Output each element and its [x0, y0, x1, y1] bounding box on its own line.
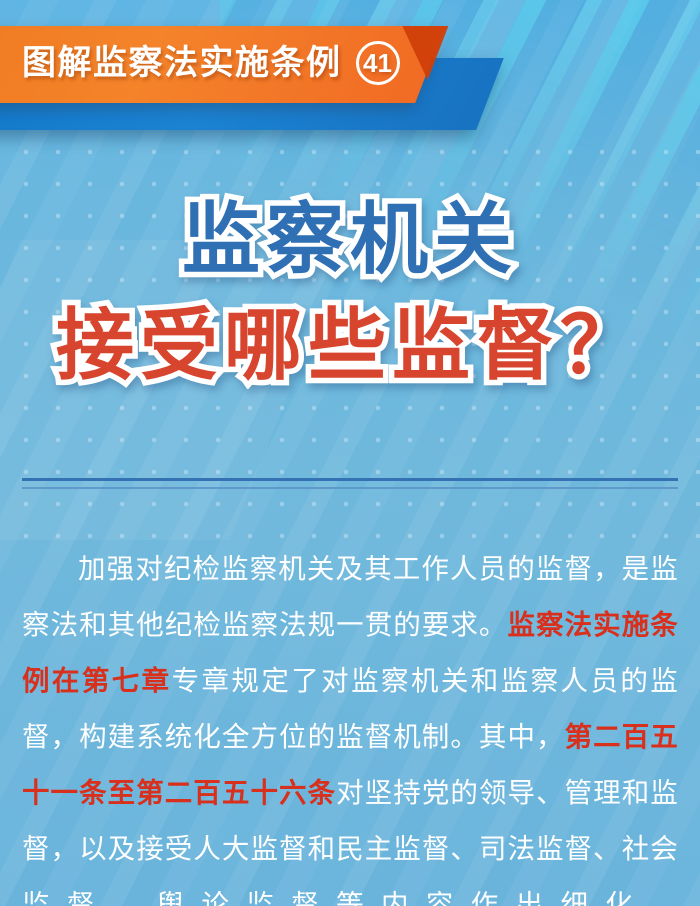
body-paragraph: 加强对纪检监察机关及其工作人员的监督，是监察法和其他纪检监察法规一贯的要求。监察…: [22, 541, 678, 906]
divider-line-thin: [22, 487, 678, 489]
page-title-line-1: 监察机关: [0, 186, 700, 292]
infographic-poster: 图解监察法实施条例 41 监察机关 接受哪些监督？ 加强对纪检监察机关及其工作人…: [0, 0, 700, 906]
banner-episode-number-badge: 41: [356, 41, 400, 85]
divider-line-thick: [22, 478, 678, 481]
banner-title-group: 图解监察法实施条例 41: [22, 38, 400, 88]
banner-title-label: 图解监察法实施条例: [22, 38, 342, 88]
divider: [22, 478, 678, 489]
page-title: 监察机关 接受哪些监督？: [0, 186, 700, 398]
page-title-line-2: 接受哪些监督？: [0, 292, 700, 398]
